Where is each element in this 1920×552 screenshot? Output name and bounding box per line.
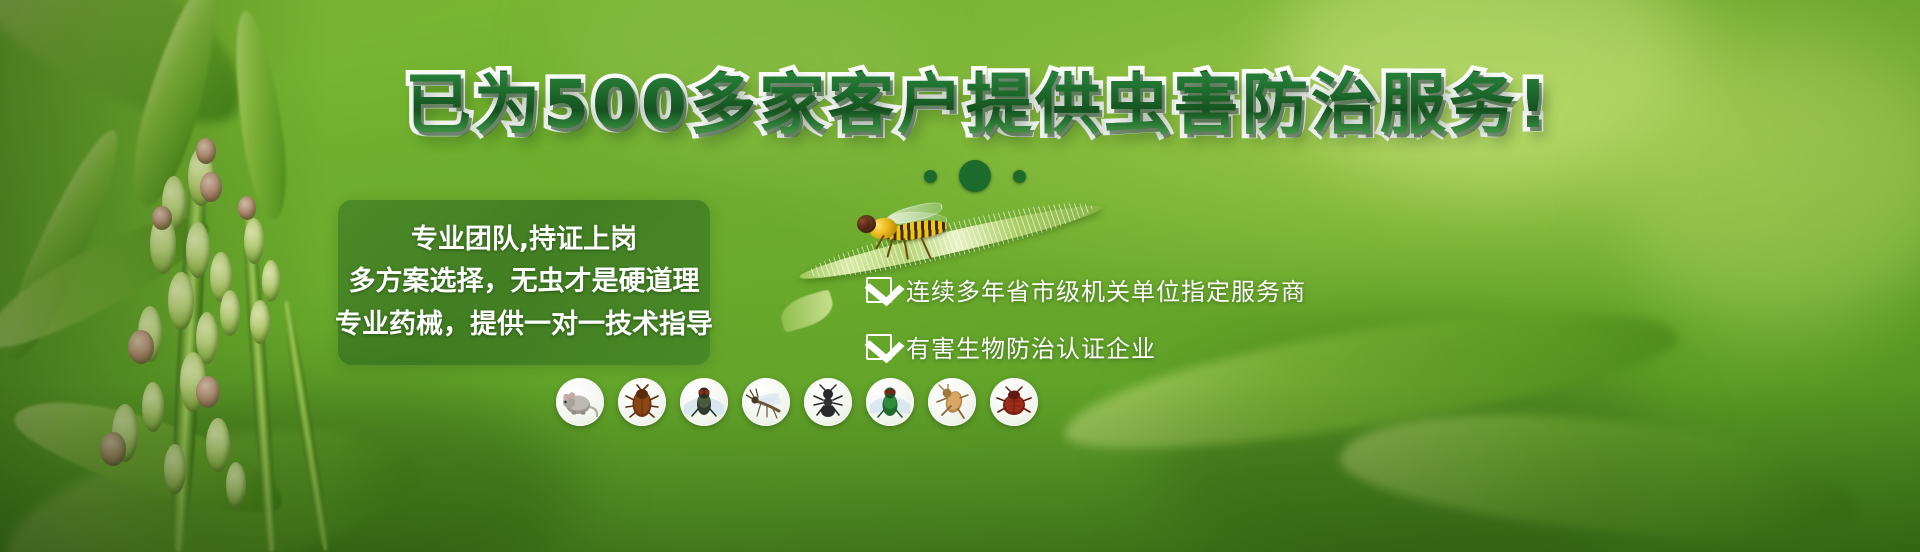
pest-types-row: [556, 378, 1038, 426]
fly-icon[interactable]: [680, 378, 728, 426]
selling-point-line: 多方案选择，无虫才是硬道理: [349, 268, 700, 296]
credentials-list: 连续多年省市级机关单位指定服务商 有害生物防治认证企业: [866, 272, 1306, 386]
selling-point-line: 专业药械，提供一对一技术指导: [335, 311, 713, 339]
cockroach-icon[interactable]: [618, 378, 666, 426]
page-title: 已为500多家客户提供虫害防治服务! 已为500多家客户提供虫害防治服务!: [0, 72, 1920, 138]
decor-dot-small: [924, 170, 937, 183]
decor-dot-large: [959, 160, 991, 192]
credential-label: 有害生物防治认证企业: [906, 329, 1156, 364]
credential-label: 连续多年省市级机关单位指定服务商: [906, 272, 1306, 307]
decor-dot-small: [1013, 170, 1026, 183]
flea-icon[interactable]: [928, 378, 976, 426]
list-item: 连续多年省市级机关单位指定服务商: [866, 272, 1306, 307]
checkbox-checked-icon: [866, 334, 892, 360]
selling-points-box: 专业团队,持证上岗 多方案选择，无虫才是硬道理 专业药械，提供一对一技术指导: [338, 200, 710, 365]
blowfly-icon[interactable]: [866, 378, 914, 426]
ant-icon[interactable]: [804, 378, 852, 426]
decorative-dots: [0, 160, 1920, 192]
checkbox-checked-icon: [866, 277, 892, 303]
mosquito-icon[interactable]: [742, 378, 790, 426]
selling-point-line: 专业团队,持证上岗: [411, 226, 637, 254]
rat-icon[interactable]: [556, 378, 604, 426]
bedbug-icon[interactable]: [990, 378, 1038, 426]
headline-fill-layer: 已为500多家客户提供虫害防治服务!: [405, 72, 1551, 138]
pest-control-hero-banner: 已为500多家客户提供虫害防治服务! 已为500多家客户提供虫害防治服务! 专业…: [0, 0, 1920, 552]
list-item: 有害生物防治认证企业: [866, 329, 1306, 364]
